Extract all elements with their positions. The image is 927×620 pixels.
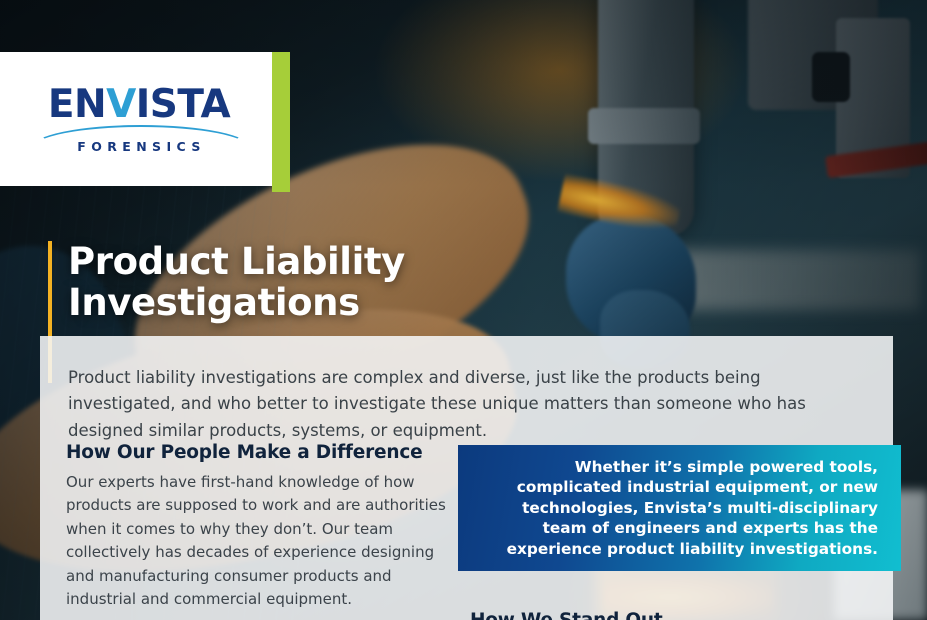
logo-word-part2: ISTA [136,82,230,127]
people-section-heading: How Our People Make a Difference [66,442,456,463]
logo-wordmark: ENVISTA [37,85,241,124]
stand-out-section-heading: How We Stand Out [470,610,663,620]
logo-panel[interactable]: ENVISTA FORENSICS [0,52,272,186]
intro-paragraph: Product liability investigations are com… [68,365,858,445]
product-liability-brochure-page: ENVISTA FORENSICS Product Liability Inve… [0,0,927,620]
logo-word-part1: EN [48,82,106,127]
page-title-line-1: Product Liability [68,241,405,282]
people-section: How Our People Make a Difference Our exp… [66,442,456,611]
envista-forensics-logo: ENVISTA FORENSICS [37,85,241,154]
logo-green-accent-bar [272,52,290,192]
people-section-body: Our experts have first-hand knowledge of… [66,471,456,611]
callout-text: Whether it’s simple powered tools, compl… [458,457,901,559]
logo-arc-icon [37,125,241,140]
logo-checkmark-v-icon: V [106,82,136,127]
callout-box: Whether it’s simple powered tools, compl… [458,445,901,571]
page-title-line-2: Investigations [68,282,405,323]
logo-subtitle: FORENSICS [37,139,241,154]
